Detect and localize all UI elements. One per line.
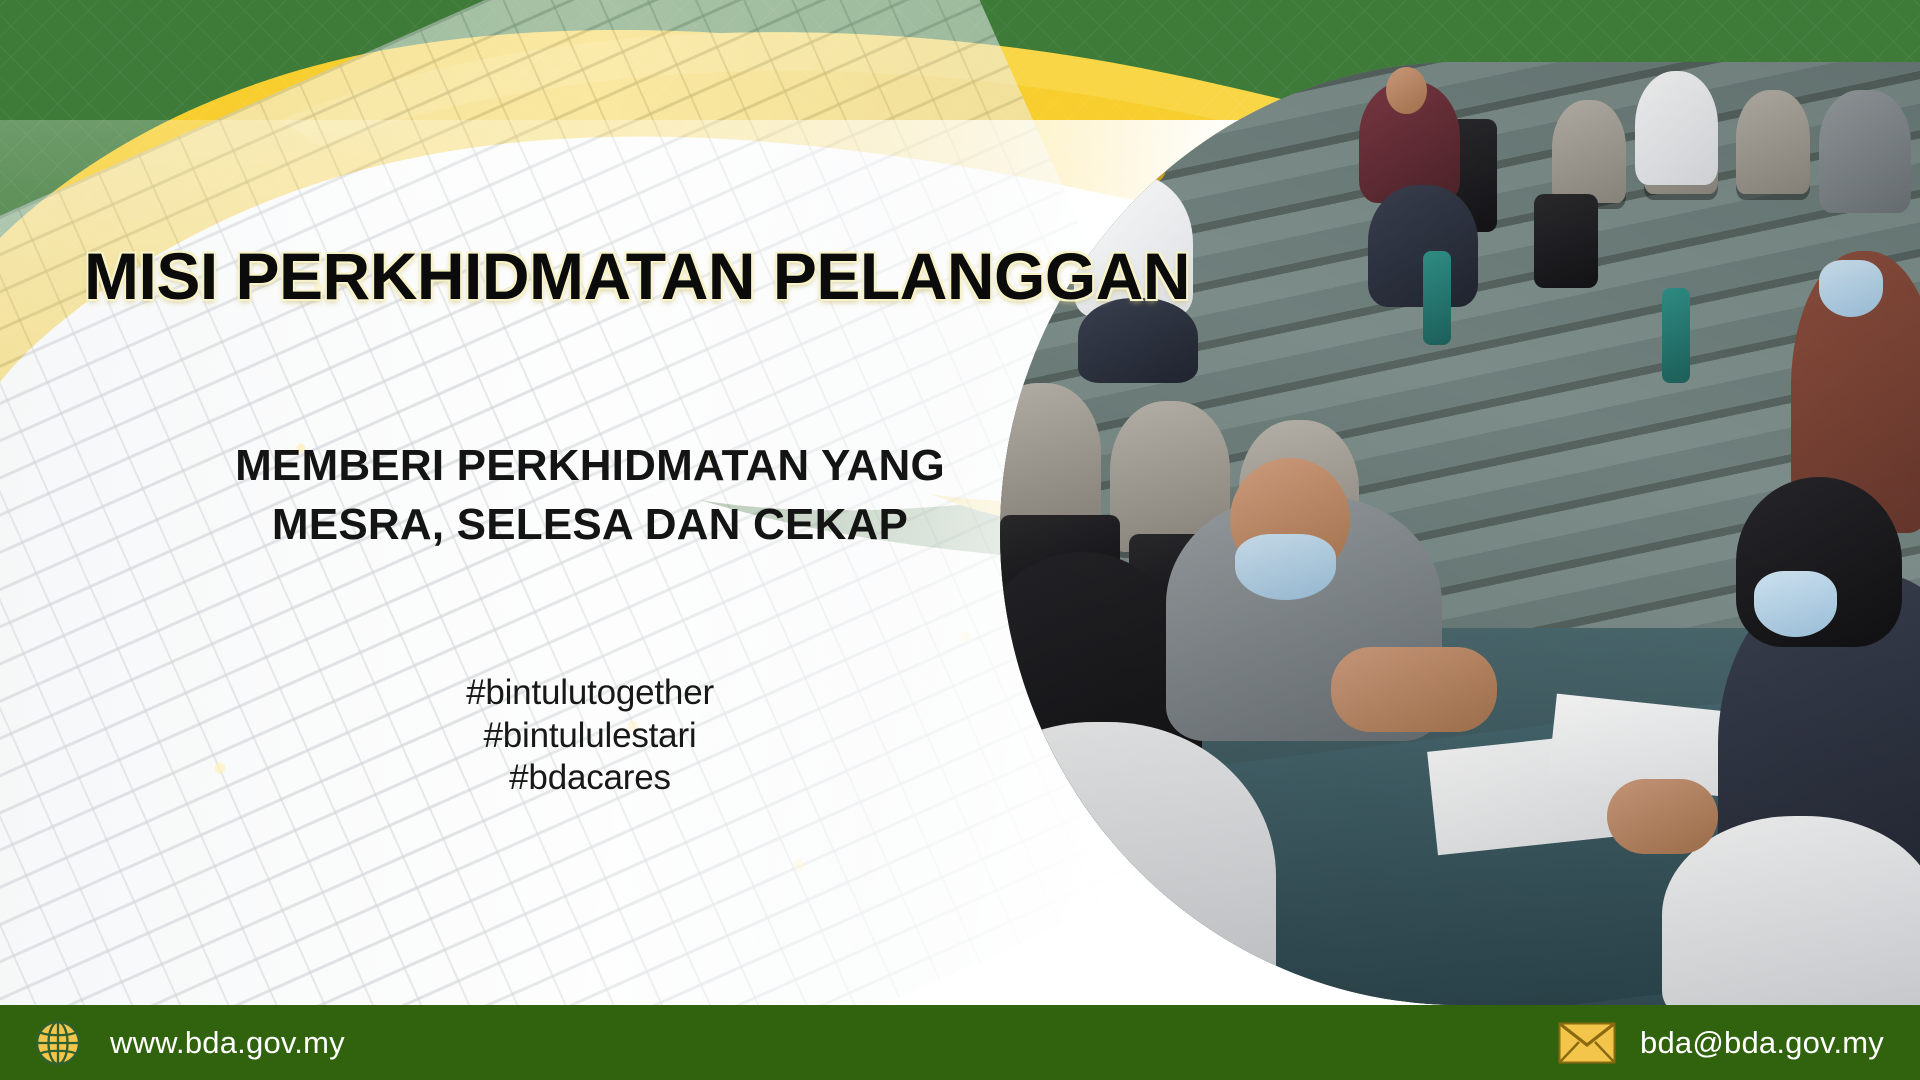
photo-shading (1000, 62, 1920, 1005)
footer-bar: www.bda.gov.my bda@bda.gov.my (0, 1005, 1920, 1080)
event-photo-image (1000, 62, 1920, 1005)
subtitle-block: MEMBERI PERKHIDMATAN YANG MESRA, SELESA … (90, 437, 1090, 555)
website-url[interactable]: www.bda.gov.my (110, 1025, 345, 1061)
hashtag-block: #bintulutogether #bintululestari #bdacar… (90, 672, 1090, 800)
globe-icon (34, 1019, 82, 1067)
subtitle-line-2: MESRA, SELESA DAN CEKAP (90, 496, 1090, 555)
subtitle-line-1: MEMBERI PERKHIDMATAN YANG (90, 437, 1090, 496)
envelope-icon (1558, 1022, 1616, 1064)
email-contact[interactable]: bda@bda.gov.my (1558, 1022, 1884, 1064)
hashtag-1: #bintulutogether (90, 672, 1090, 715)
event-photo (1000, 62, 1920, 1005)
hashtag-3: #bdacares (90, 757, 1090, 800)
website-contact[interactable]: www.bda.gov.my (34, 1019, 345, 1067)
page-title: MISI PERKHIDMATAN PELANGGAN (84, 242, 1124, 311)
slide-canvas: MISI PERKHIDMATAN PELANGGAN MEMBERI PERK… (0, 0, 1920, 1080)
email-address[interactable]: bda@bda.gov.my (1640, 1025, 1884, 1061)
hashtag-2: #bintululestari (90, 715, 1090, 758)
